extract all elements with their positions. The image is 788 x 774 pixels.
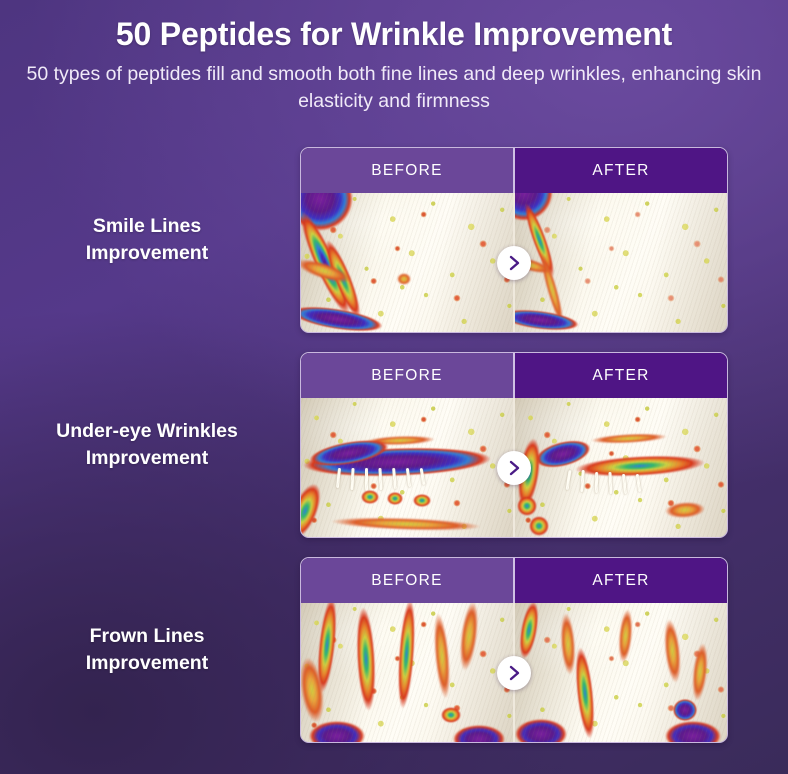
before-label: BEFORE xyxy=(301,558,513,603)
row-label-frown-lines: Frown Lines Improvement xyxy=(0,623,300,676)
before-label: BEFORE xyxy=(301,148,513,193)
before-image-frown-lines xyxy=(301,603,513,742)
comparison-row-smile-lines: Smile Lines Improvement BEFORE AFTER xyxy=(0,147,788,333)
chevron-right-icon[interactable] xyxy=(497,451,531,485)
before-label: BEFORE xyxy=(301,353,513,398)
row-label-line1: Frown Lines xyxy=(0,623,294,650)
card-header: BEFORE AFTER xyxy=(301,148,727,193)
comparison-card-under-eye[interactable]: BEFORE AFTER xyxy=(300,352,728,538)
row-label-line2: Improvement xyxy=(0,650,294,677)
after-label: AFTER xyxy=(515,558,727,603)
comparison-row-under-eye: Under-eye Wrinkles Improvement BEFORE AF… xyxy=(0,352,788,538)
after-image-smile-lines xyxy=(515,193,727,332)
row-label-line2: Improvement xyxy=(0,240,294,267)
chevron-right-icon[interactable] xyxy=(497,246,531,280)
row-label-line1: Smile Lines xyxy=(0,213,294,240)
page-header: 50 Peptides for Wrinkle Improvement 50 t… xyxy=(0,0,788,115)
after-label: AFTER xyxy=(515,353,727,398)
card-body xyxy=(301,193,727,332)
row-label-line1: Under-eye Wrinkles xyxy=(0,418,294,445)
row-label-line2: Improvement xyxy=(0,445,294,472)
card-header: BEFORE AFTER xyxy=(301,558,727,603)
comparison-row-frown-lines: Frown Lines Improvement BEFORE AFTER xyxy=(0,557,788,743)
comparison-card-frown-lines[interactable]: BEFORE AFTER xyxy=(300,557,728,743)
card-body xyxy=(301,398,727,537)
after-image-frown-lines xyxy=(515,603,727,742)
page-title: 50 Peptides for Wrinkle Improvement xyxy=(0,17,788,53)
comparison-card-smile-lines[interactable]: BEFORE AFTER xyxy=(300,147,728,333)
after-label: AFTER xyxy=(515,148,727,193)
before-image-under-eye xyxy=(301,398,513,537)
card-body xyxy=(301,603,727,742)
card-header: BEFORE AFTER xyxy=(301,353,727,398)
chevron-right-icon[interactable] xyxy=(497,656,531,690)
row-label-under-eye: Under-eye Wrinkles Improvement xyxy=(0,418,300,471)
page-subtitle: 50 types of peptides fill and smooth bot… xyxy=(0,61,788,115)
page-root: 50 Peptides for Wrinkle Improvement 50 t… xyxy=(0,0,788,774)
after-image-under-eye xyxy=(515,398,727,537)
before-image-smile-lines xyxy=(301,193,513,332)
row-label-smile-lines: Smile Lines Improvement xyxy=(0,213,300,266)
